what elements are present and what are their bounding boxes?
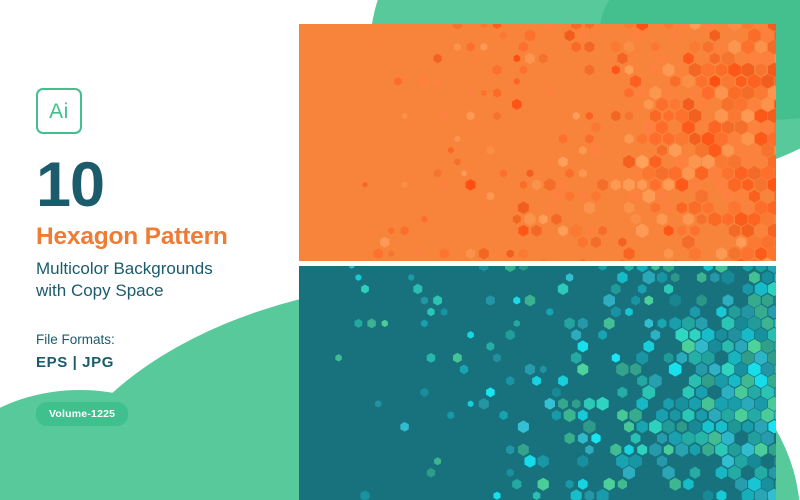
page-subtitle-line-2: with Copy Space bbox=[36, 280, 296, 303]
orange-hexagon-pattern-preview bbox=[299, 24, 776, 261]
volume-badge: Volume-1225 bbox=[36, 402, 128, 426]
adobe-illustrator-icon-label: Ai bbox=[49, 101, 69, 122]
orange-hexagon-pattern-svg bbox=[299, 24, 776, 261]
page-subtitle: Multicolor Backgrounds with Copy Space bbox=[36, 258, 296, 303]
item-count: 10 bbox=[36, 156, 296, 216]
page-subtitle-line-1: Multicolor Backgrounds bbox=[36, 258, 296, 281]
file-formats-value: EPS | JPG bbox=[36, 354, 296, 371]
file-formats-label: File Formats: bbox=[36, 332, 296, 347]
teal-hexagon-pattern-svg bbox=[299, 266, 776, 500]
teal-hexagon-pattern-preview bbox=[299, 266, 776, 500]
poster-canvas: Ai 10 Hexagon Pattern Multicolor Backgro… bbox=[0, 0, 800, 500]
page-title: Hexagon Pattern bbox=[36, 224, 296, 251]
adobe-illustrator-icon: Ai bbox=[36, 88, 82, 134]
info-panel: Ai 10 Hexagon Pattern Multicolor Backgro… bbox=[36, 88, 296, 426]
